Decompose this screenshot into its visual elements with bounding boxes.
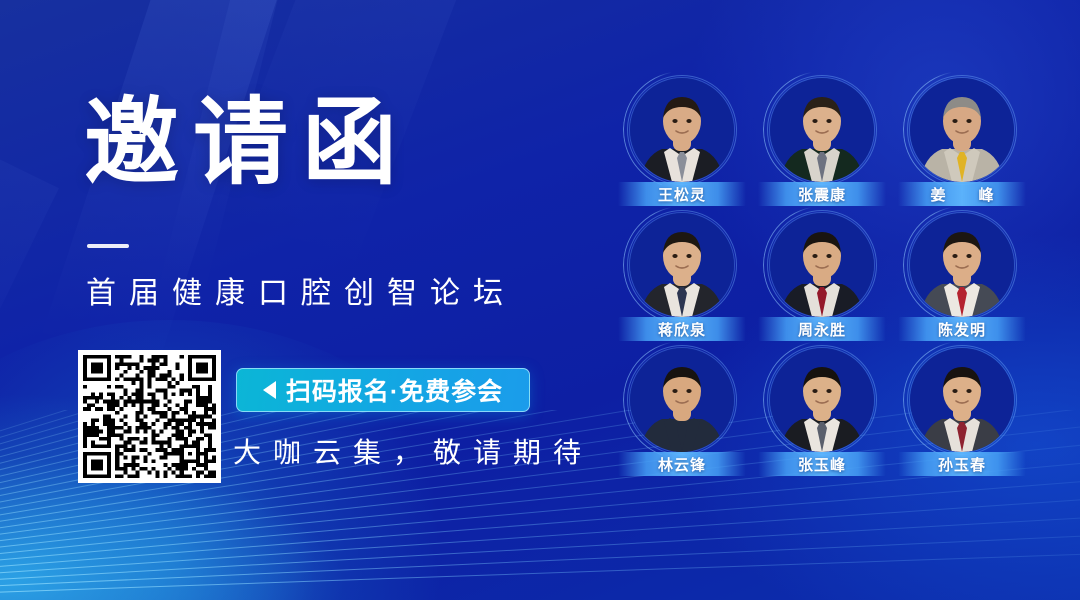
avatar (630, 78, 734, 182)
speaker-name-banner: 王松灵 (618, 182, 746, 206)
avatar (910, 213, 1014, 317)
avatar-ring (910, 348, 1014, 452)
qr-code-canvas (83, 355, 216, 478)
speaker-card[interactable]: 姜 峰 (892, 78, 1032, 213)
scan-to-register-button[interactable]: 扫码报名·免费参会 (236, 368, 530, 412)
speaker-card[interactable]: 林云锋 (612, 348, 752, 483)
avatar-ring (770, 213, 874, 317)
avatar (630, 348, 734, 452)
speaker-card[interactable]: 王松灵 (612, 78, 752, 213)
avatar (910, 78, 1014, 182)
speaker-name-banner: 张震康 (758, 182, 886, 206)
speaker-name: 张玉峰 (798, 454, 846, 475)
avatar-ring (770, 78, 874, 182)
speaker-name-banner: 陈发明 (898, 317, 1026, 341)
speaker-name-banner: 蒋欣泉 (618, 317, 746, 341)
avatar (770, 348, 874, 452)
speaker-name: 孙玉春 (938, 454, 986, 475)
speaker-name: 张震康 (798, 184, 846, 205)
speaker-name: 王松灵 (658, 184, 706, 205)
scan-to-register-label: 扫码报名·免费参会 (286, 372, 503, 408)
speaker-name-banner: 周永胜 (758, 317, 886, 341)
speaker-card[interactable]: 周永胜 (752, 213, 892, 348)
speaker-name-banner: 孙玉春 (898, 452, 1026, 476)
avatar-ring (770, 348, 874, 452)
avatar-ring (630, 213, 734, 317)
speaker-name-banner: 张玉峰 (758, 452, 886, 476)
page-title: 邀请函 (84, 96, 411, 191)
avatar (910, 348, 1014, 452)
speaker-name-banner: 林云锋 (618, 452, 746, 476)
speaker-grid: 王松灵 张震康 姜 峰 (612, 78, 1032, 498)
speaker-card[interactable]: 蒋欣泉 (612, 213, 752, 348)
avatar (630, 213, 734, 317)
subtitle: 首届健康口腔创智论坛 (86, 268, 516, 312)
title-divider (87, 244, 129, 248)
speaker-name: 周永胜 (798, 319, 846, 340)
avatar (770, 213, 874, 317)
speaker-name: 陈发明 (938, 319, 986, 340)
avatar (770, 78, 874, 182)
speaker-card[interactable]: 张玉峰 (752, 348, 892, 483)
avatar-ring (910, 78, 1014, 182)
tagline: 大咖云集，敬请期待 (233, 431, 593, 471)
speaker-name-banner: 姜 峰 (898, 182, 1026, 206)
invitation-poster: 邀请函 首届健康口腔创智论坛 扫码报名·免费参会 大咖云集，敬请期待 王松灵 (0, 0, 1080, 600)
qr-code[interactable] (78, 350, 221, 483)
speaker-name: 林云锋 (658, 454, 706, 475)
avatar-ring (910, 213, 1014, 317)
speaker-card[interactable]: 孙玉春 (892, 348, 1032, 483)
speaker-card[interactable]: 陈发明 (892, 213, 1032, 348)
speaker-name: 蒋欣泉 (658, 319, 706, 340)
speaker-name: 姜 峰 (921, 184, 1002, 205)
left-triangle-icon (263, 381, 276, 399)
left-content-column: 邀请函 首届健康口腔创智论坛 扫码报名·免费参会 大咖云集，敬请期待 (0, 0, 600, 600)
avatar-ring (630, 78, 734, 182)
speaker-card[interactable]: 张震康 (752, 78, 892, 213)
avatar-ring (630, 348, 734, 452)
